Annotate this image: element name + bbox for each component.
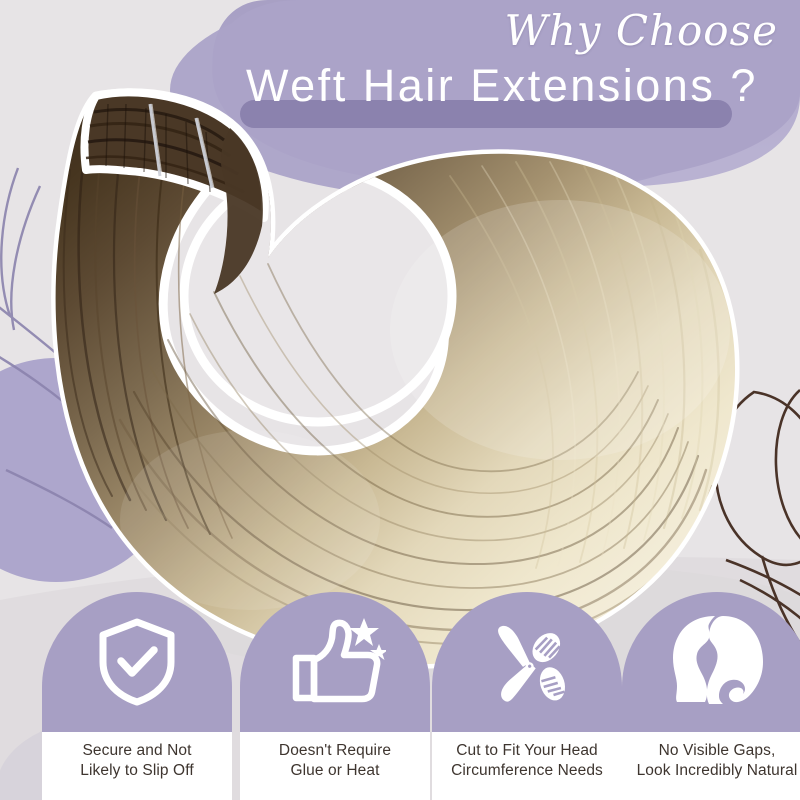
feature-label: Doesn't Require Glue or Heat bbox=[279, 741, 391, 781]
thumbs-up-stars-icon bbox=[284, 614, 386, 710]
shield-check-icon bbox=[89, 614, 185, 710]
feature-card-list: Secure and Not Likely to Slip Off Doesn'… bbox=[0, 590, 800, 800]
woman-hair-silhouette-icon bbox=[665, 614, 769, 710]
feature-label: Secure and Not Likely to Slip Off bbox=[80, 741, 194, 781]
feature-card-natural-look[interactable]: No Visible Gaps, Look Incredibly Natural bbox=[622, 592, 800, 800]
headline-main: Weft Hair Extensions ? bbox=[246, 60, 758, 112]
feature-text-panel: Doesn't Require Glue or Heat bbox=[240, 732, 430, 800]
feature-card-cut-to-fit[interactable]: Cut to Fit Your Head Circumference Needs bbox=[432, 592, 622, 800]
feature-icon-panel bbox=[240, 592, 430, 732]
headline-script: Why Choose bbox=[505, 6, 778, 55]
feature-text-panel: Cut to Fit Your Head Circumference Needs bbox=[432, 732, 622, 800]
feature-icon-panel bbox=[42, 592, 232, 732]
feature-icon-panel bbox=[622, 592, 800, 732]
feature-text-panel: Secure and Not Likely to Slip Off bbox=[42, 732, 232, 800]
feature-icon-panel bbox=[432, 592, 622, 732]
feature-card-no-glue[interactable]: Doesn't Require Glue or Heat bbox=[240, 592, 430, 800]
feature-label: No Visible Gaps, Look Incredibly Natural bbox=[637, 741, 798, 781]
feature-card-secure[interactable]: Secure and Not Likely to Slip Off bbox=[42, 592, 232, 800]
feature-label: Cut to Fit Your Head Circumference Needs bbox=[451, 741, 603, 781]
feature-text-panel: No Visible Gaps, Look Incredibly Natural bbox=[622, 732, 800, 800]
headline-group: Why Choose Weft Hair Extensions ? bbox=[0, 0, 800, 140]
promo-banner: Why Choose Weft Hair Extensions ? Secure… bbox=[0, 0, 800, 800]
scissors-icon bbox=[477, 612, 577, 712]
